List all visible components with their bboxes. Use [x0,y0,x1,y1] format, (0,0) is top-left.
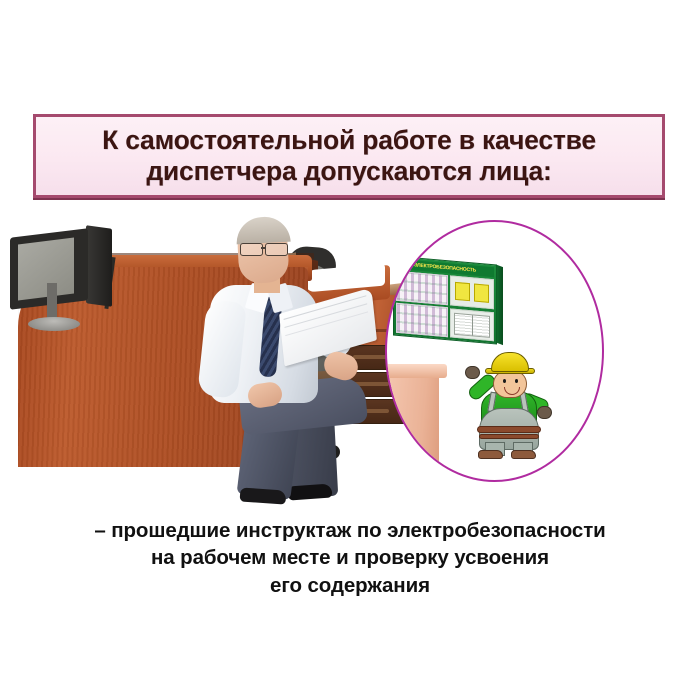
worker-boot [478,450,503,459]
board-content [396,271,494,342]
safety-poster [396,271,448,306]
leaflet-pockets [450,275,494,309]
monitor-base [28,317,80,331]
leaflet-pocket [474,284,489,303]
board-side-edge [497,265,503,345]
glasses-lens-right [265,243,288,256]
worker-belt [477,426,541,433]
monitor-rear-housing [86,225,112,307]
caption-block: – прошедшие инструктаж по электробезопас… [0,517,700,599]
monitor-screen [18,238,74,301]
worker-glove [465,366,480,379]
worker-eye [515,379,518,383]
hard-hat-icon [491,352,529,372]
worker-belt-lower [479,434,539,439]
safety-poster [396,303,448,338]
wall-pillar-cap [385,364,447,378]
shoe [288,483,333,500]
title-line-2: диспетчера допускаются лица: [102,156,596,187]
worker-eye [503,379,506,383]
caption-line-2: на рабочем месте и проверку усвоения [0,544,700,571]
dispatcher-at-workstation-illustration: ЭЛЕКТРОБЕЗОПАСНОСТЬ [0,205,700,505]
worker-glove [537,406,552,419]
worker-boot [511,450,536,459]
glasses-lens-left [240,243,263,256]
shoe [240,487,287,504]
hair [235,216,290,245]
worker-face [493,370,527,398]
title-line-1: К самостоятельной работе в качестве [102,125,596,155]
board-right-column [450,275,494,341]
book-display [450,308,494,341]
caption-line-1: – прошедшие инструктаж по электробезопас… [0,517,700,544]
worker-smile [504,387,520,395]
monitor-stand-arm [47,283,57,321]
page-title: К самостоятельной работе в качестве дисп… [96,125,602,187]
title-banner: К самостоятельной работе в качестве дисп… [33,114,665,198]
board-posters [396,271,448,338]
caption-line-3: его содержания [0,572,700,599]
seated-dispatcher [196,205,386,495]
electrical-safety-board: ЭЛЕКТРОБЕЗОПАСНОСТЬ [393,255,497,344]
magnified-circle-inset: ЭЛЕКТРОБЕЗОПАСНОСТЬ [385,220,604,482]
cartoon-worker-thumbs-up [465,350,551,458]
wall-pillar [385,372,439,482]
leaflet-pocket [455,282,470,301]
glasses-icon [240,243,294,254]
open-book-icon [454,312,490,337]
